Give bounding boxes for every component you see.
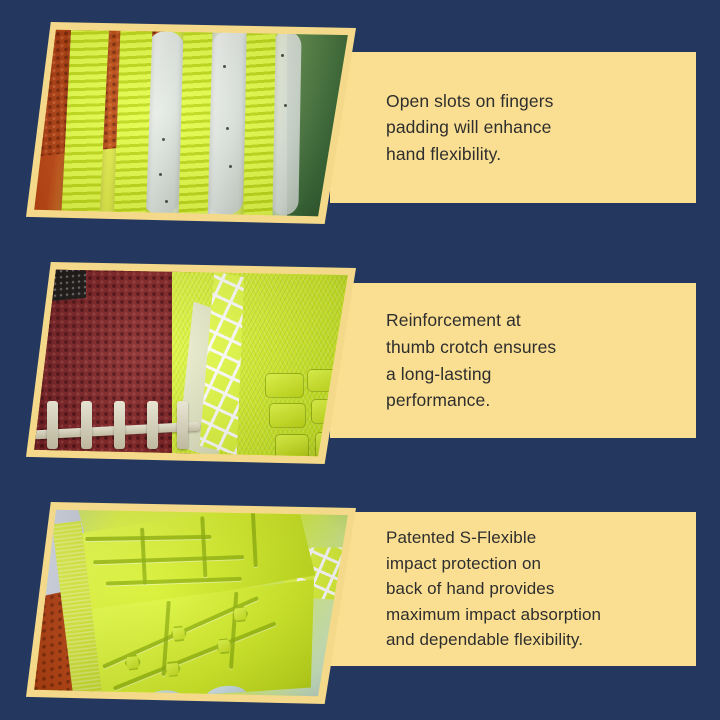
photo-frame-1 — [26, 22, 356, 224]
photo-finger-slots — [31, 27, 351, 219]
photo-frame-3 — [26, 502, 356, 704]
caption-text-3: Patented S-Flexible impact protection on… — [330, 525, 615, 653]
caption-text-1: Open slots on fingers padding will enhan… — [330, 88, 567, 168]
caption-text-2: Reinforcement at thumb crotch ensures a … — [330, 307, 570, 413]
photo-vignette — [31, 27, 351, 219]
photo-s-flexible-impact — [31, 507, 351, 699]
caption-card-1: Open slots on fingers padding will enhan… — [330, 52, 696, 203]
caption-card-2: Reinforcement at thumb crotch ensures a … — [330, 283, 696, 438]
photo-thumb-crotch — [31, 267, 351, 459]
feature-row-s-flexible-impact: Patented S-Flexible impact protection on… — [0, 480, 720, 720]
feature-row-finger-slots: Open slots on fingers padding will enhan… — [0, 0, 720, 240]
photo-frame-2 — [26, 262, 356, 464]
photo-vignette — [31, 507, 351, 699]
photo-vignette — [31, 267, 351, 459]
feature-row-thumb-crotch: Reinforcement at thumb crotch ensures a … — [0, 240, 720, 480]
caption-card-3: Patented S-Flexible impact protection on… — [330, 512, 696, 666]
infographic-board: Open slots on fingers padding will enhan… — [0, 0, 720, 720]
